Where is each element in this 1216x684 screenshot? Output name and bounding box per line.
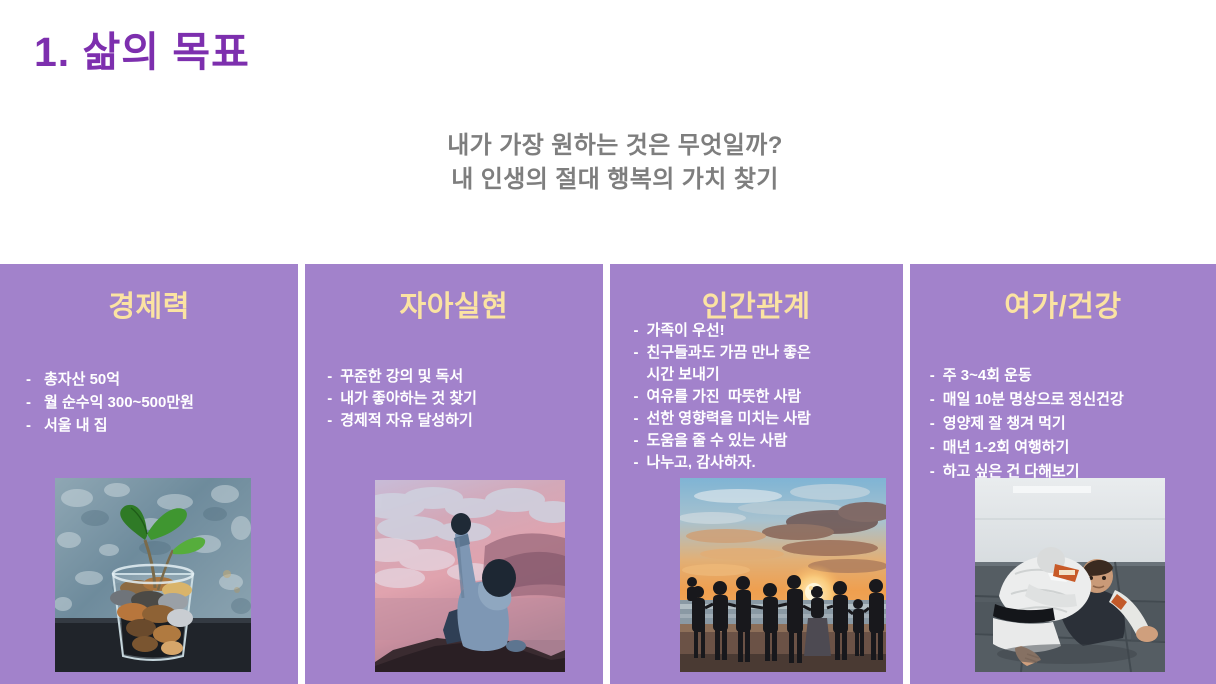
list-item: - 나누고, 감사하자. (634, 452, 903, 474)
slide-title: 1. 삶의 목표 (34, 18, 250, 78)
bullet-text: 매일 10분 명상으로 정신건강 (943, 388, 1216, 412)
list-item: - 여유를 가진 따뜻한 사람 (634, 386, 903, 408)
list-item-continuation: 시간 보내기 (634, 364, 903, 386)
bullet-text: 총자산 50억 (44, 368, 298, 391)
list-item: - 경제적 자유 달성하기 (327, 410, 602, 432)
bullet-dash: - (930, 436, 943, 460)
bullet-text: 여유를 가진 따뜻한 사람 (647, 386, 903, 408)
list-item: - 내가 좋아하는 것 찾기 (327, 388, 602, 410)
bullet-text: 꾸준한 강의 및 독서 (340, 366, 602, 388)
bullet-dash: - (327, 388, 340, 410)
list-item: - 선한 영향력을 미치는 사람 (634, 408, 903, 430)
bullet-text: 도움을 줄 수 있는 사람 (647, 430, 903, 452)
bullet-dash: - (930, 412, 943, 436)
column-heading: 자아실현 (305, 283, 602, 325)
bullet-dash: - (26, 391, 44, 414)
list-item: - 친구들과도 가끔 만나 좋은 (634, 342, 903, 364)
list-item: - 매일 10분 명상으로 정신건강 (930, 388, 1216, 412)
bullet-text: 친구들과도 가끔 만나 좋은 (647, 342, 903, 364)
bullet-dash: - (634, 386, 647, 408)
list-item: - 총자산 50억 (26, 368, 298, 391)
bullet-dash: - (26, 414, 44, 437)
brazilian-jiu-jitsu-sparring-photo (975, 478, 1165, 672)
bullet-text: 가족이 우선! (647, 320, 903, 342)
bullet-dash: - (930, 388, 943, 412)
bullet-dash: - (26, 368, 44, 391)
bullet-text: 서울 내 집 (44, 414, 298, 437)
presentation-slide: 1. 삶의 목표 내가 가장 원하는 것은 무엇일까? 내 인생의 절대 행복의… (0, 0, 1216, 684)
bullet-dash: - (634, 408, 647, 430)
list-item: - 매년 1-2회 여행하기 (930, 436, 1216, 460)
bullet-text: 매년 1-2회 여행하기 (943, 436, 1216, 460)
bullet-text: 시간 보내기 (647, 364, 903, 386)
list-item: - 서울 내 집 (26, 414, 298, 437)
person-raising-fist-above-clouds-photo (375, 480, 565, 672)
bullet-dash: - (327, 366, 340, 388)
bullet-text: 영양제 잘 챙겨 먹기 (943, 412, 1216, 436)
column-bullet-list: - 꾸준한 강의 및 독서 - 내가 좋아하는 것 찾기 - 경제적 자유 달성… (305, 366, 602, 432)
coins-in-glass-with-sprout-photo (55, 478, 251, 672)
subtitle-block: 내가 가장 원하는 것은 무엇일까? 내 인생의 절대 행복의 가치 찾기 (0, 129, 1216, 197)
bullet-text: 주 3~4회 운동 (943, 364, 1216, 388)
column-heading: 경제력 (0, 283, 298, 325)
column-bullet-list: - 가족이 우선! - 친구들과도 가끔 만나 좋은 시간 보내기 - 여유를 … (610, 320, 903, 474)
list-item: - 주 3~4회 운동 (930, 364, 1216, 388)
list-item: - 꾸준한 강의 및 독서 (327, 366, 602, 388)
bullet-text: 경제적 자유 달성하기 (340, 410, 602, 432)
people-holding-hands-at-beach-sunset-photo (680, 478, 886, 672)
bullet-dash: - (634, 430, 647, 452)
column-heading: 여가/건강 (910, 283, 1216, 325)
bullet-dash: - (327, 410, 340, 432)
bullet-dash: - (634, 320, 647, 342)
bullet-text: 선한 영향력을 미치는 사람 (647, 408, 903, 430)
bullet-dash: - (634, 342, 647, 364)
bullet-text: 월 순수익 300~500만원 (44, 391, 298, 414)
bullet-dash: - (930, 460, 943, 484)
list-item: - 가족이 우선! (634, 320, 903, 342)
list-item: - 도움을 줄 수 있는 사람 (634, 430, 903, 452)
subtitle-line-2: 내 인생의 절대 행복의 가치 찾기 (14, 163, 1216, 197)
list-item: - 월 순수익 300~500만원 (26, 391, 298, 414)
bullet-dash: - (634, 452, 647, 474)
column-heading: 인간관계 (610, 283, 903, 325)
column-bullet-list: - 주 3~4회 운동 - 매일 10분 명상으로 정신건강 - 영양제 잘 챙… (910, 364, 1216, 484)
bullet-dash: - (930, 364, 943, 388)
subtitle-line-1: 내가 가장 원하는 것은 무엇일까? (14, 129, 1216, 163)
bullet-text: 내가 좋아하는 것 찾기 (340, 388, 602, 410)
column-bullet-list: - 총자산 50억 - 월 순수익 300~500만원 - 서울 내 집 (0, 368, 298, 437)
list-item: - 영양제 잘 챙겨 먹기 (930, 412, 1216, 436)
bullet-text: 나누고, 감사하자. (647, 452, 903, 474)
